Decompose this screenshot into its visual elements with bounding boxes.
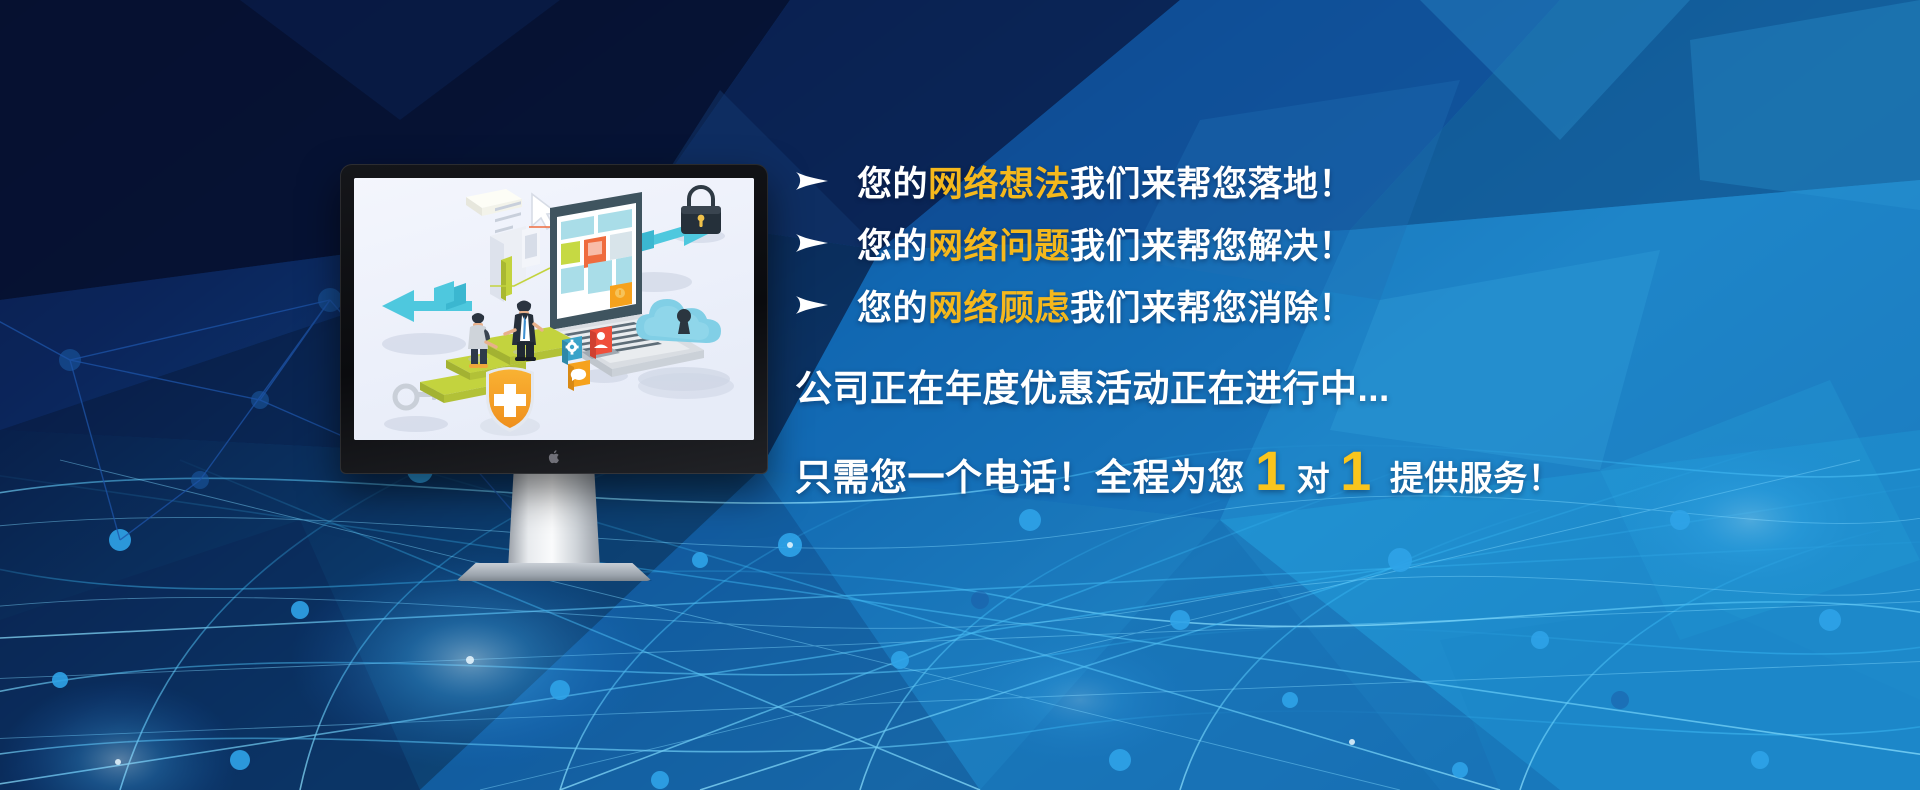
bullet-text-2: 您的网络问题我们来帮您解决！ xyxy=(857,218,1354,269)
bullet-prefix-2: 您的 xyxy=(857,227,928,266)
desktop-monitor xyxy=(340,164,768,474)
monitor-chin xyxy=(340,440,768,474)
closing-middle: 对 xyxy=(1297,452,1331,500)
bullet-row-1: 您的网络想法我们来帮您落地！ xyxy=(795,150,1795,212)
closing-lead: 只需您一个电话！全程为您 xyxy=(795,447,1245,501)
bullet-suffix-2: 我们来帮您解决！ xyxy=(1070,227,1354,266)
bullet-text-3: 您的网络顾虑我们来帮您消除！ xyxy=(857,280,1354,331)
closing-tail: 提供服务！ xyxy=(1390,451,1563,500)
bullet-prefix-3: 您的 xyxy=(857,289,928,328)
closing-number-one: 1 xyxy=(1255,446,1287,496)
bullet-highlight-1: 网络想法 xyxy=(928,165,1070,204)
arrow-bullet-icon xyxy=(795,168,829,194)
monitor-screen xyxy=(354,178,754,440)
apple-logo-icon xyxy=(548,449,561,465)
bullet-text-1: 您的网络想法我们来帮您落地！ xyxy=(857,156,1354,207)
copy-block: 您的网络想法我们来帮您落地！ 您的网络问题我们来帮您解决！ 您的网络顾虑我们来帮… xyxy=(795,150,1795,501)
closing-line: 只需您一个电话！全程为您 1 对 1 提供服务！ xyxy=(795,446,1795,501)
bullet-row-2: 您的网络问题我们来帮您解决！ xyxy=(795,212,1795,274)
closing-number-two: 1 xyxy=(1340,446,1372,496)
bullet-highlight-3: 网络顾虑 xyxy=(928,289,1070,328)
arrow-bullet-icon xyxy=(795,292,829,318)
bullet-prefix-1: 您的 xyxy=(857,165,928,204)
promo-line: 公司正在年度优惠活动正在进行中... xyxy=(795,358,1795,412)
promotional-banner: 您的网络想法我们来帮您落地！ 您的网络问题我们来帮您解决！ 您的网络顾虑我们来帮… xyxy=(0,0,1920,790)
arrow-bullet-icon xyxy=(795,230,829,256)
monitor-stand-base xyxy=(456,563,652,581)
monitor-bezel xyxy=(340,164,768,474)
bullet-suffix-1: 我们来帮您落地！ xyxy=(1070,165,1354,204)
shield-icon xyxy=(480,367,540,436)
bullet-row-3: 您的网络顾虑我们来帮您消除！ xyxy=(795,274,1795,336)
bullet-highlight-2: 网络问题 xyxy=(928,227,1070,266)
monitor-stand-neck xyxy=(508,473,600,569)
marker-bar xyxy=(501,256,512,301)
bullet-suffix-3: 我们来帮您消除！ xyxy=(1070,289,1354,328)
